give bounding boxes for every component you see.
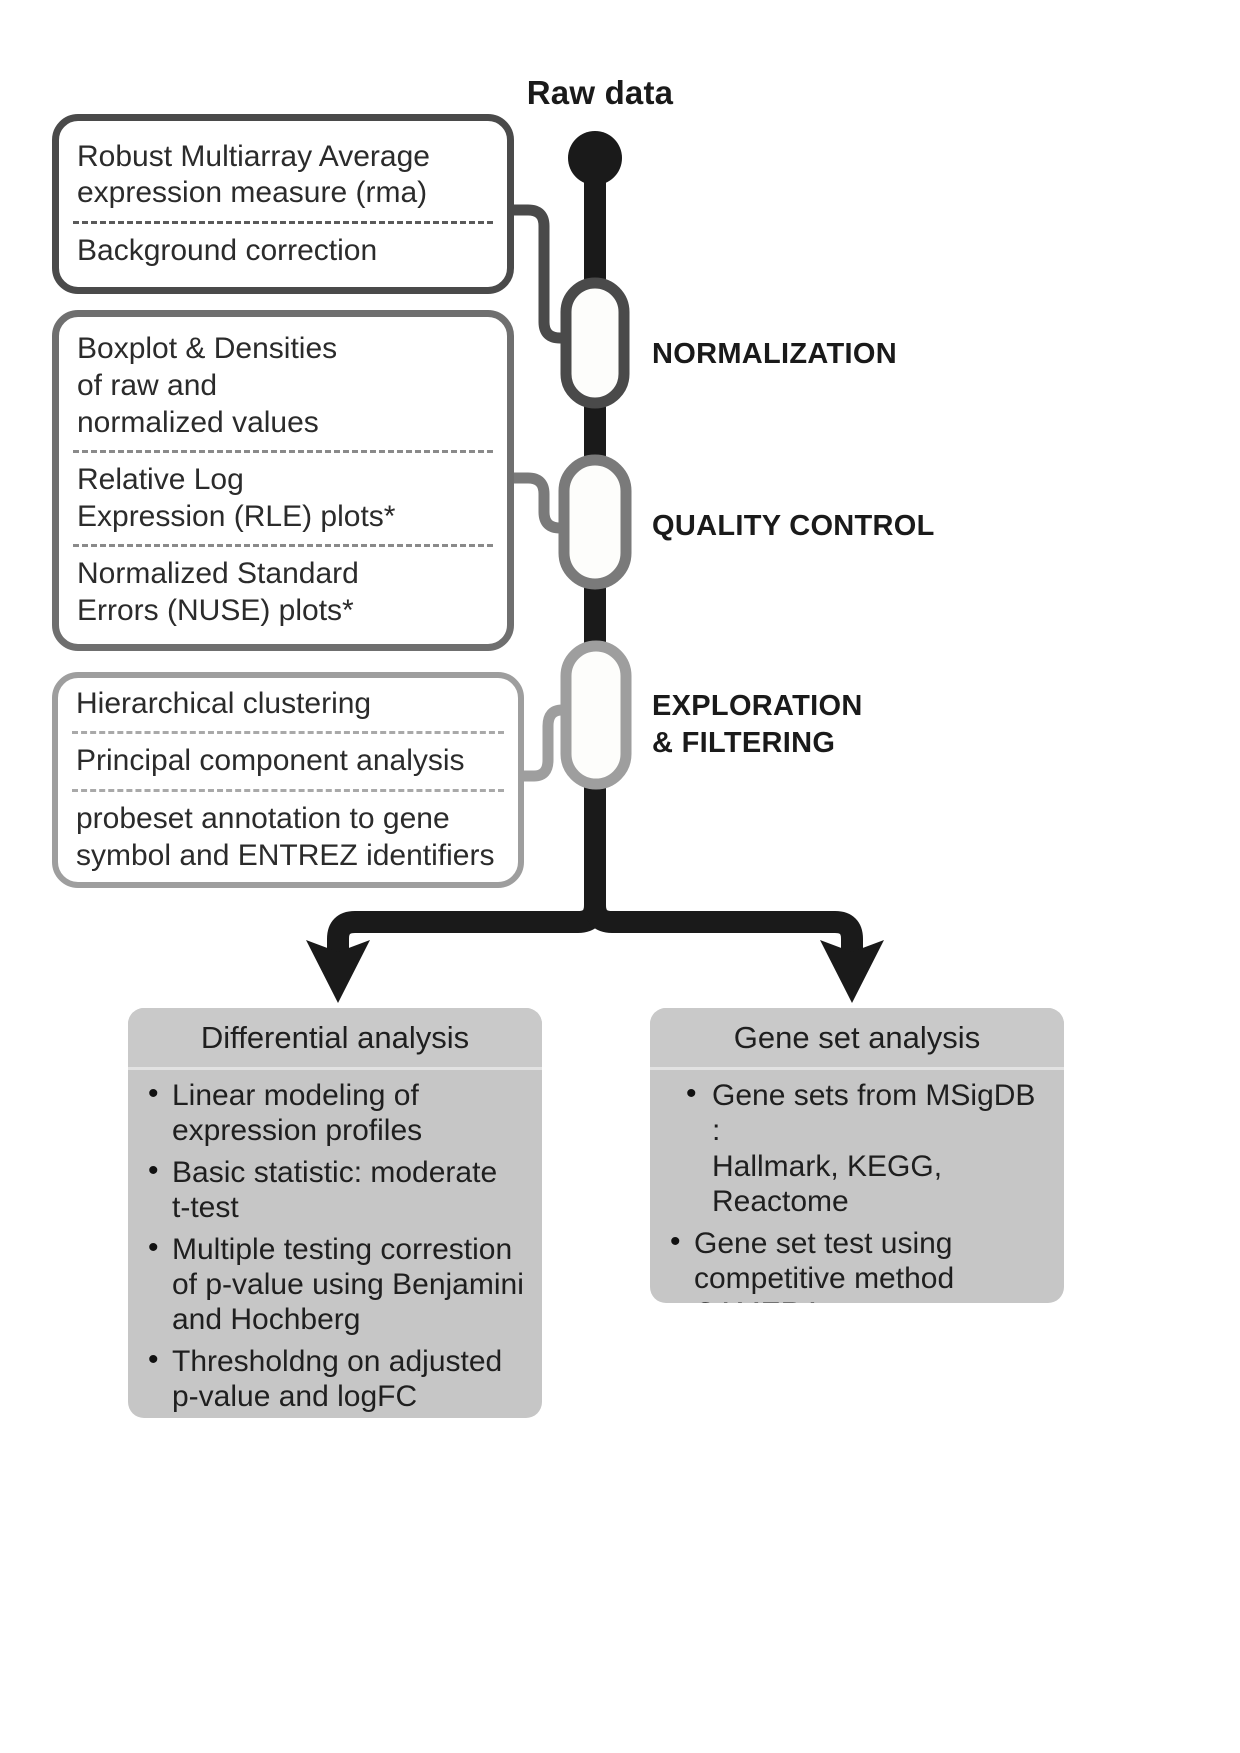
list-item: Basic statistic: moderate t-test (142, 1155, 528, 1226)
list-item: Linear modeling of expression profiles (142, 1078, 528, 1149)
analysis-panel-gene-set: Gene set analysis Gene sets from MSigDB … (650, 1008, 1064, 1303)
stage-card-exploration: Hierarchical clustering Principal compon… (52, 672, 524, 888)
stage-card-item: probeset annotation to gene symbol and E… (58, 792, 518, 883)
branch-right-down-arrow-icon (820, 940, 884, 1003)
stage-card-item: Normalized Standard Errors (NUSE) plots* (59, 547, 507, 638)
spine-segment-3 (584, 780, 606, 900)
stage-card-item: Robust Multiarray Average expression mea… (59, 130, 507, 221)
stage-label-normalization: NORMALIZATION (652, 336, 897, 373)
branch-right-line (595, 900, 852, 952)
branch-left-line (338, 900, 595, 952)
spine-segment-top (584, 152, 606, 300)
start-node-filled-circle-icon (568, 131, 622, 185)
stage-card-item: Hierarchical clustering (58, 677, 518, 732)
panel-body: Linear modeling of expression profiles B… (128, 1070, 542, 1418)
page-title: Raw data (430, 74, 770, 112)
stage-label-exploration: EXPLORATION & FILTERING (652, 688, 863, 762)
stage-node-exploration-rounded-capsule-icon (566, 646, 626, 784)
bullet-list: Linear modeling of expression profiles B… (142, 1078, 528, 1415)
connector-quality-control (513, 478, 572, 528)
spine-segment-1 (584, 392, 606, 476)
list-item: Thresholdng on adjusted p-value and logF… (142, 1344, 528, 1415)
stage-card-item: Principal component analysis (58, 734, 518, 789)
branch-left-down-arrow-icon (306, 940, 370, 1003)
stage-label-quality-control: QUALITY CONTROL (652, 508, 935, 545)
panel-body: Gene sets from MSigDB : Hallmark, KEGG, … (650, 1070, 1064, 1303)
list-item: Gene sets from MSigDB : Hallmark, KEGG, … (664, 1078, 1050, 1220)
panel-title: Differential analysis (128, 1008, 542, 1070)
stage-card-item: Background correction (59, 224, 507, 279)
stage-node-quality-control-rounded-capsule-icon (564, 460, 626, 584)
spine-segment-2 (584, 572, 606, 652)
stage-card-item: Relative Log Expression (RLE) plots* (59, 453, 507, 544)
list-item: Gene set test using competitive method C… (664, 1226, 1050, 1303)
list-item: Multiple testing correstion of p-value u… (142, 1232, 528, 1338)
bullet-list: Gene sets from MSigDB : Hallmark, KEGG, … (664, 1078, 1050, 1303)
stage-card-normalization: Robust Multiarray Average expression mea… (52, 114, 514, 294)
analysis-panel-differential: Differential analysis Linear modeling of… (128, 1008, 542, 1418)
connector-normalization (513, 210, 572, 338)
stage-card-item: Boxplot & Densities of raw and normalize… (59, 322, 507, 450)
workflow-diagram: Raw data Robust Multiarray Average ex (0, 0, 1240, 1753)
stage-node-normalization-rounded-capsule-icon (566, 283, 624, 403)
panel-title: Gene set analysis (650, 1008, 1064, 1070)
stage-card-quality-control: Boxplot & Densities of raw and normalize… (52, 310, 514, 651)
connector-exploration (520, 710, 574, 776)
